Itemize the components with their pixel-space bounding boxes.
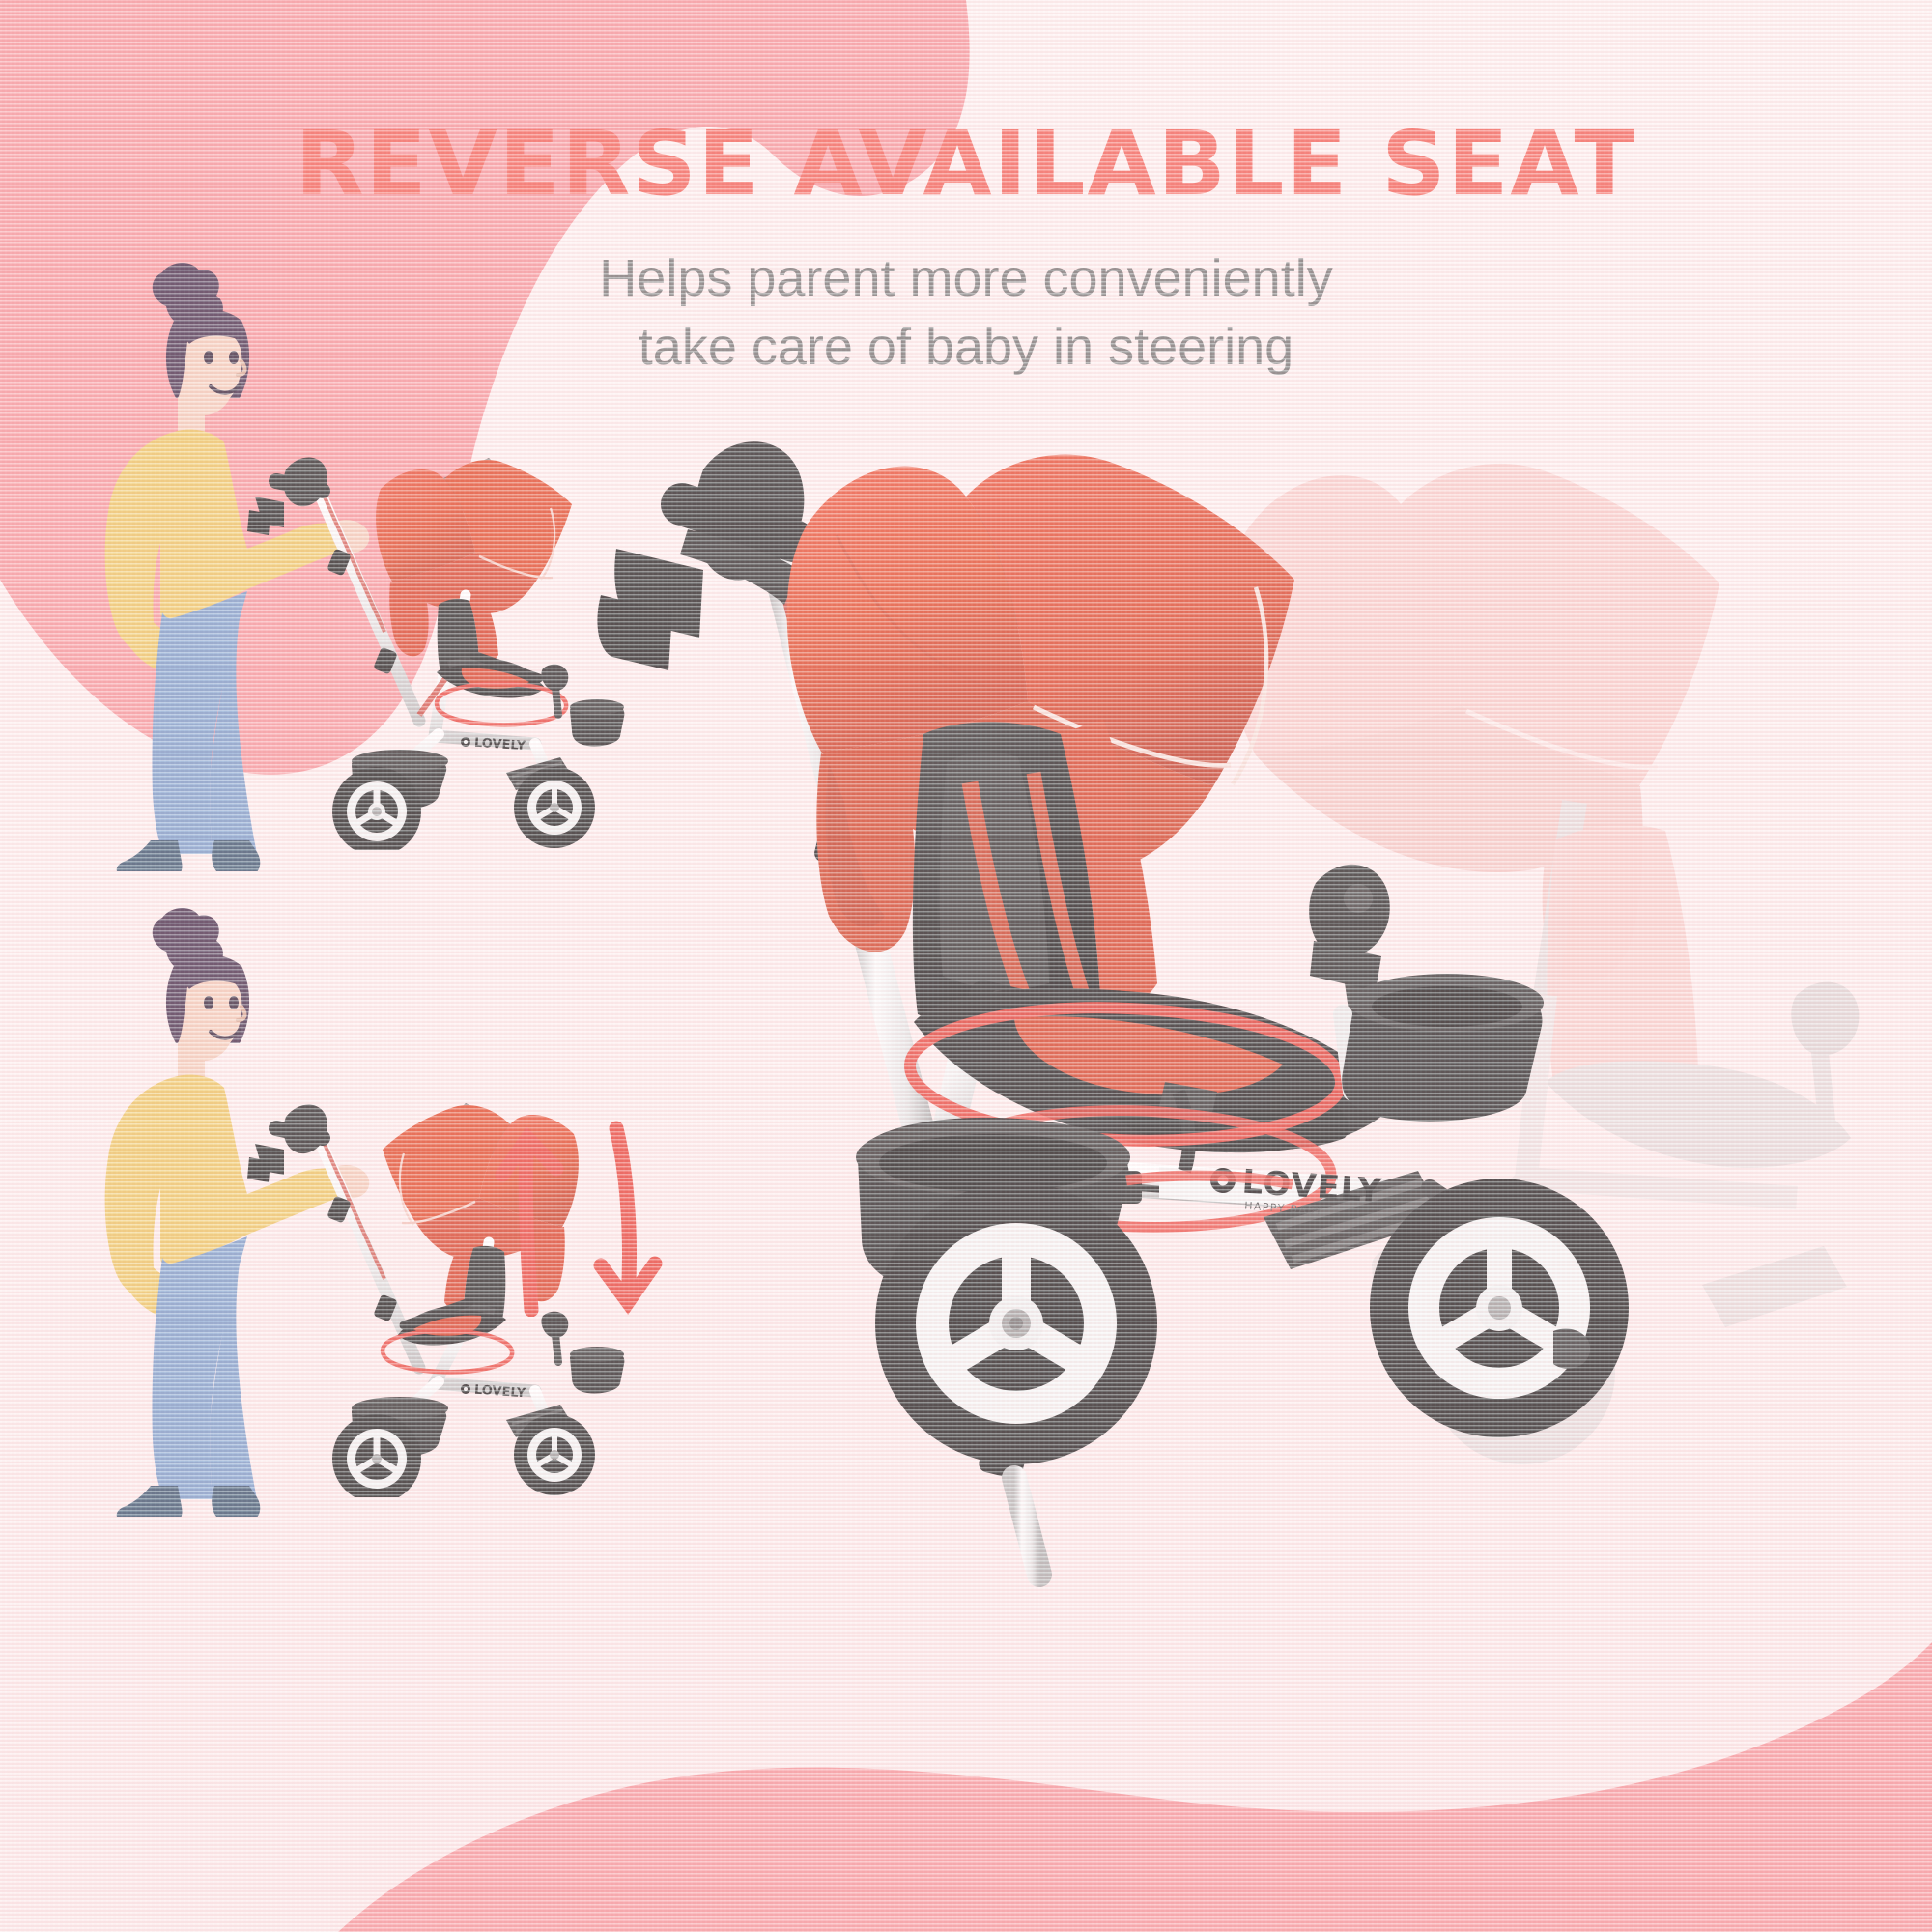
page-subtitle: Helps parent more conveniently take care… <box>0 244 1932 380</box>
arrow-down-curved <box>616 1128 630 1298</box>
page-title: REVERSE AVAILABLE SEAT <box>0 116 1932 212</box>
parent-shoe-1 <box>117 840 183 871</box>
ghost-seat-back <box>1547 825 1698 1092</box>
subtitle-line-1: Helps parent more conveniently <box>0 244 1932 312</box>
parent-eye <box>204 996 213 1009</box>
wheel-front <box>1370 1179 1629 1437</box>
handle-hook-2 <box>247 1157 270 1182</box>
arrow-up-curved <box>526 1140 531 1310</box>
handlebar-grip <box>541 665 568 691</box>
subtitle-line-2: take care of baby in steering <box>0 313 1932 381</box>
front-cockpit <box>1309 865 1544 1122</box>
canopy-flap <box>389 582 428 656</box>
wheel-rear <box>875 1182 1157 1464</box>
handle-grip-bar <box>276 1128 323 1138</box>
handle-tube-stub <box>1014 1478 1039 1575</box>
trike-hero: LOVELY HAPPY BABY <box>580 415 1932 1845</box>
seat-group <box>437 597 566 724</box>
brand-logo-text: LOVELY <box>473 1383 526 1402</box>
parent-eye-2 <box>229 996 239 1009</box>
brand-logo-text: LOVELY <box>473 736 526 754</box>
ghost-footrest <box>1702 1246 1847 1327</box>
parent-shoe-1 <box>117 1486 183 1517</box>
handle-grip-bar <box>276 481 323 491</box>
handle-hook-2 <box>247 510 270 535</box>
seat-swap-arrows <box>481 1119 684 1317</box>
ghost-seat-base <box>1546 1061 1851 1168</box>
cup-holder-inner <box>1372 986 1522 1027</box>
ghost-handlebar-grip <box>1791 982 1859 1056</box>
basket-inner <box>879 1134 1107 1192</box>
handlebar-bell <box>1344 884 1373 913</box>
header-block: REVERSE AVAILABLE SEAT Helps parent more… <box>0 116 1932 381</box>
poster-canvas: REVERSE AVAILABLE SEAT Helps parent more… <box>0 0 1932 1932</box>
